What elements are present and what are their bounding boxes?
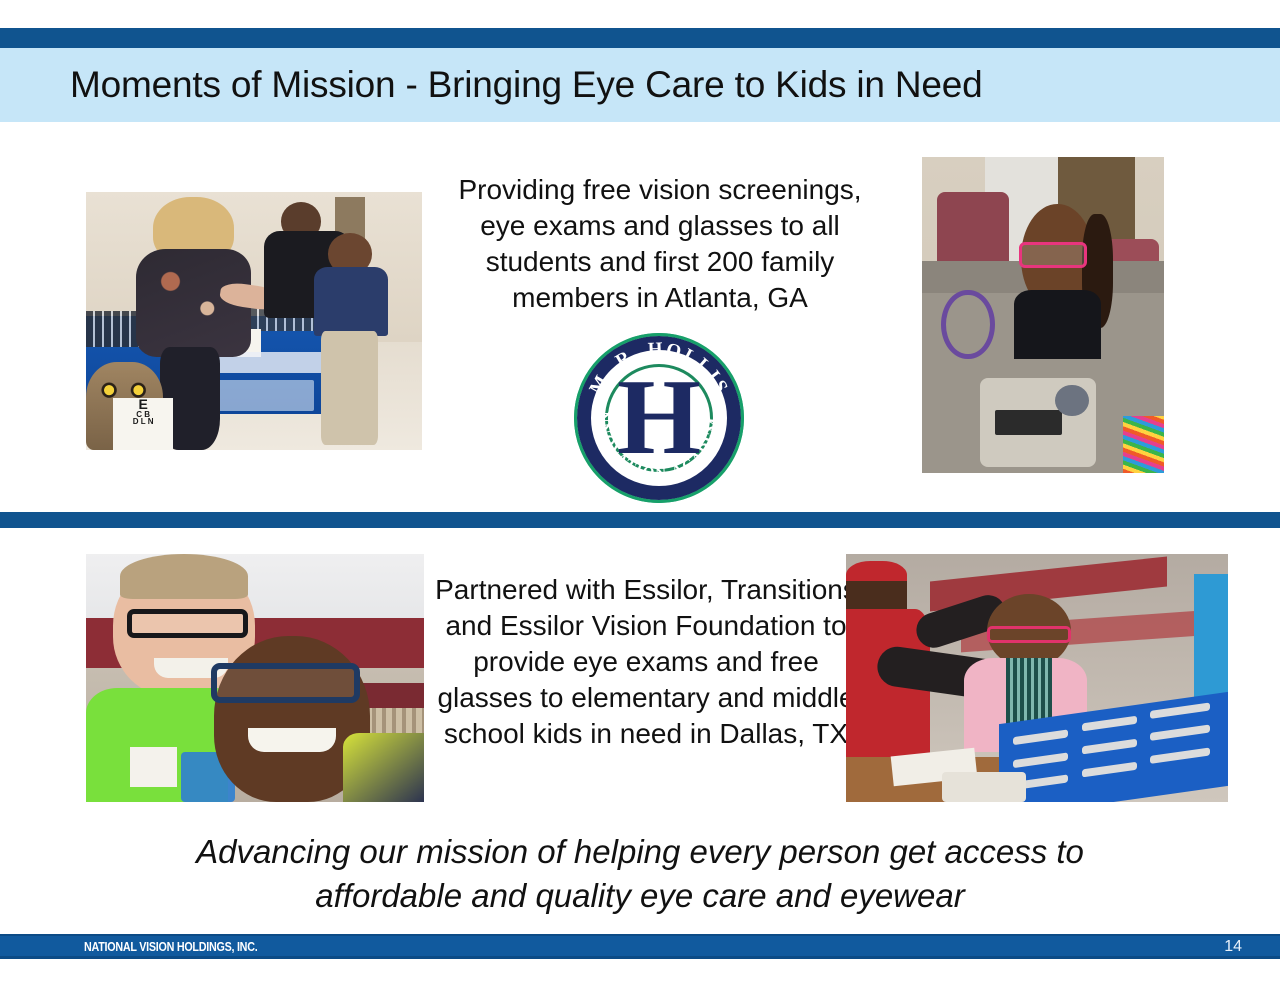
frame-item [1081,761,1136,777]
device-display [995,410,1063,435]
student-uniform-top [1014,290,1101,360]
pink-eyeglasses [1019,242,1087,267]
section-divider-bar [0,512,1280,528]
bottom-section-body-text: Partnered with Essilor, Transitions and … [432,572,860,752]
volunteer-hair [120,554,248,599]
frame-item [1150,747,1210,763]
eye-chart-sign: E C B D L N [113,398,173,450]
frame-item [1081,738,1136,754]
measuring-device [942,772,1026,802]
person-blue-shirt [1194,574,1228,703]
photo-student-pink-glasses [922,157,1164,473]
booth-brand-tagline [214,380,315,411]
mission-tagline-line-1: Advancing our mission of helping every p… [120,830,1160,874]
device-knob [1055,385,1089,417]
slide-canvas: Moments of Mission - Bringing Eye Care t… [0,0,1280,989]
occluder-hoop [941,290,994,360]
footer-company-name: NATIONAL VISION HOLDINGS, INC. [84,937,257,957]
student-jacket [343,733,424,802]
booth-student-pants [321,331,378,445]
volunteer-eyeglasses [127,609,249,639]
logo-seal: M. R. HOLLIS INNOVATION ACADEMY H [574,333,744,503]
header-accent-bar [0,28,1280,48]
frame-item [1150,724,1210,740]
student-blue-eyeglasses [211,663,360,703]
hollis-innovation-academy-logo: M. R. HOLLIS INNOVATION ACADEMY H [566,330,752,506]
pink-frames-on-face [987,626,1071,643]
photo-americas-best-booth: E C B D L N [86,192,422,450]
mission-tagline-line-2: affordable and quality eye care and eyew… [120,874,1160,918]
footer-page-number: 14 [1224,936,1242,958]
top-section-body-text: Providing free vision screenings, eye ex… [440,172,880,316]
frame-item [1013,729,1068,745]
page-title: Moments of Mission - Bringing Eye Care t… [70,56,1210,114]
photo-frame-selection-table [846,554,1228,802]
student-smile [248,728,336,753]
frame-item [1013,752,1068,768]
volunteer-name-tag [130,747,177,787]
photo-volunteer-student-selfie [86,554,424,802]
frame-item [1150,702,1210,718]
logo-monogram: H [574,333,744,503]
eye-chart-line-3: D L N [113,418,173,425]
mission-tagline: Advancing our mission of helping every p… [120,830,1160,918]
frame-item [1081,716,1136,732]
booth-student-shirt [314,267,388,337]
colored-pencils [1123,416,1164,473]
